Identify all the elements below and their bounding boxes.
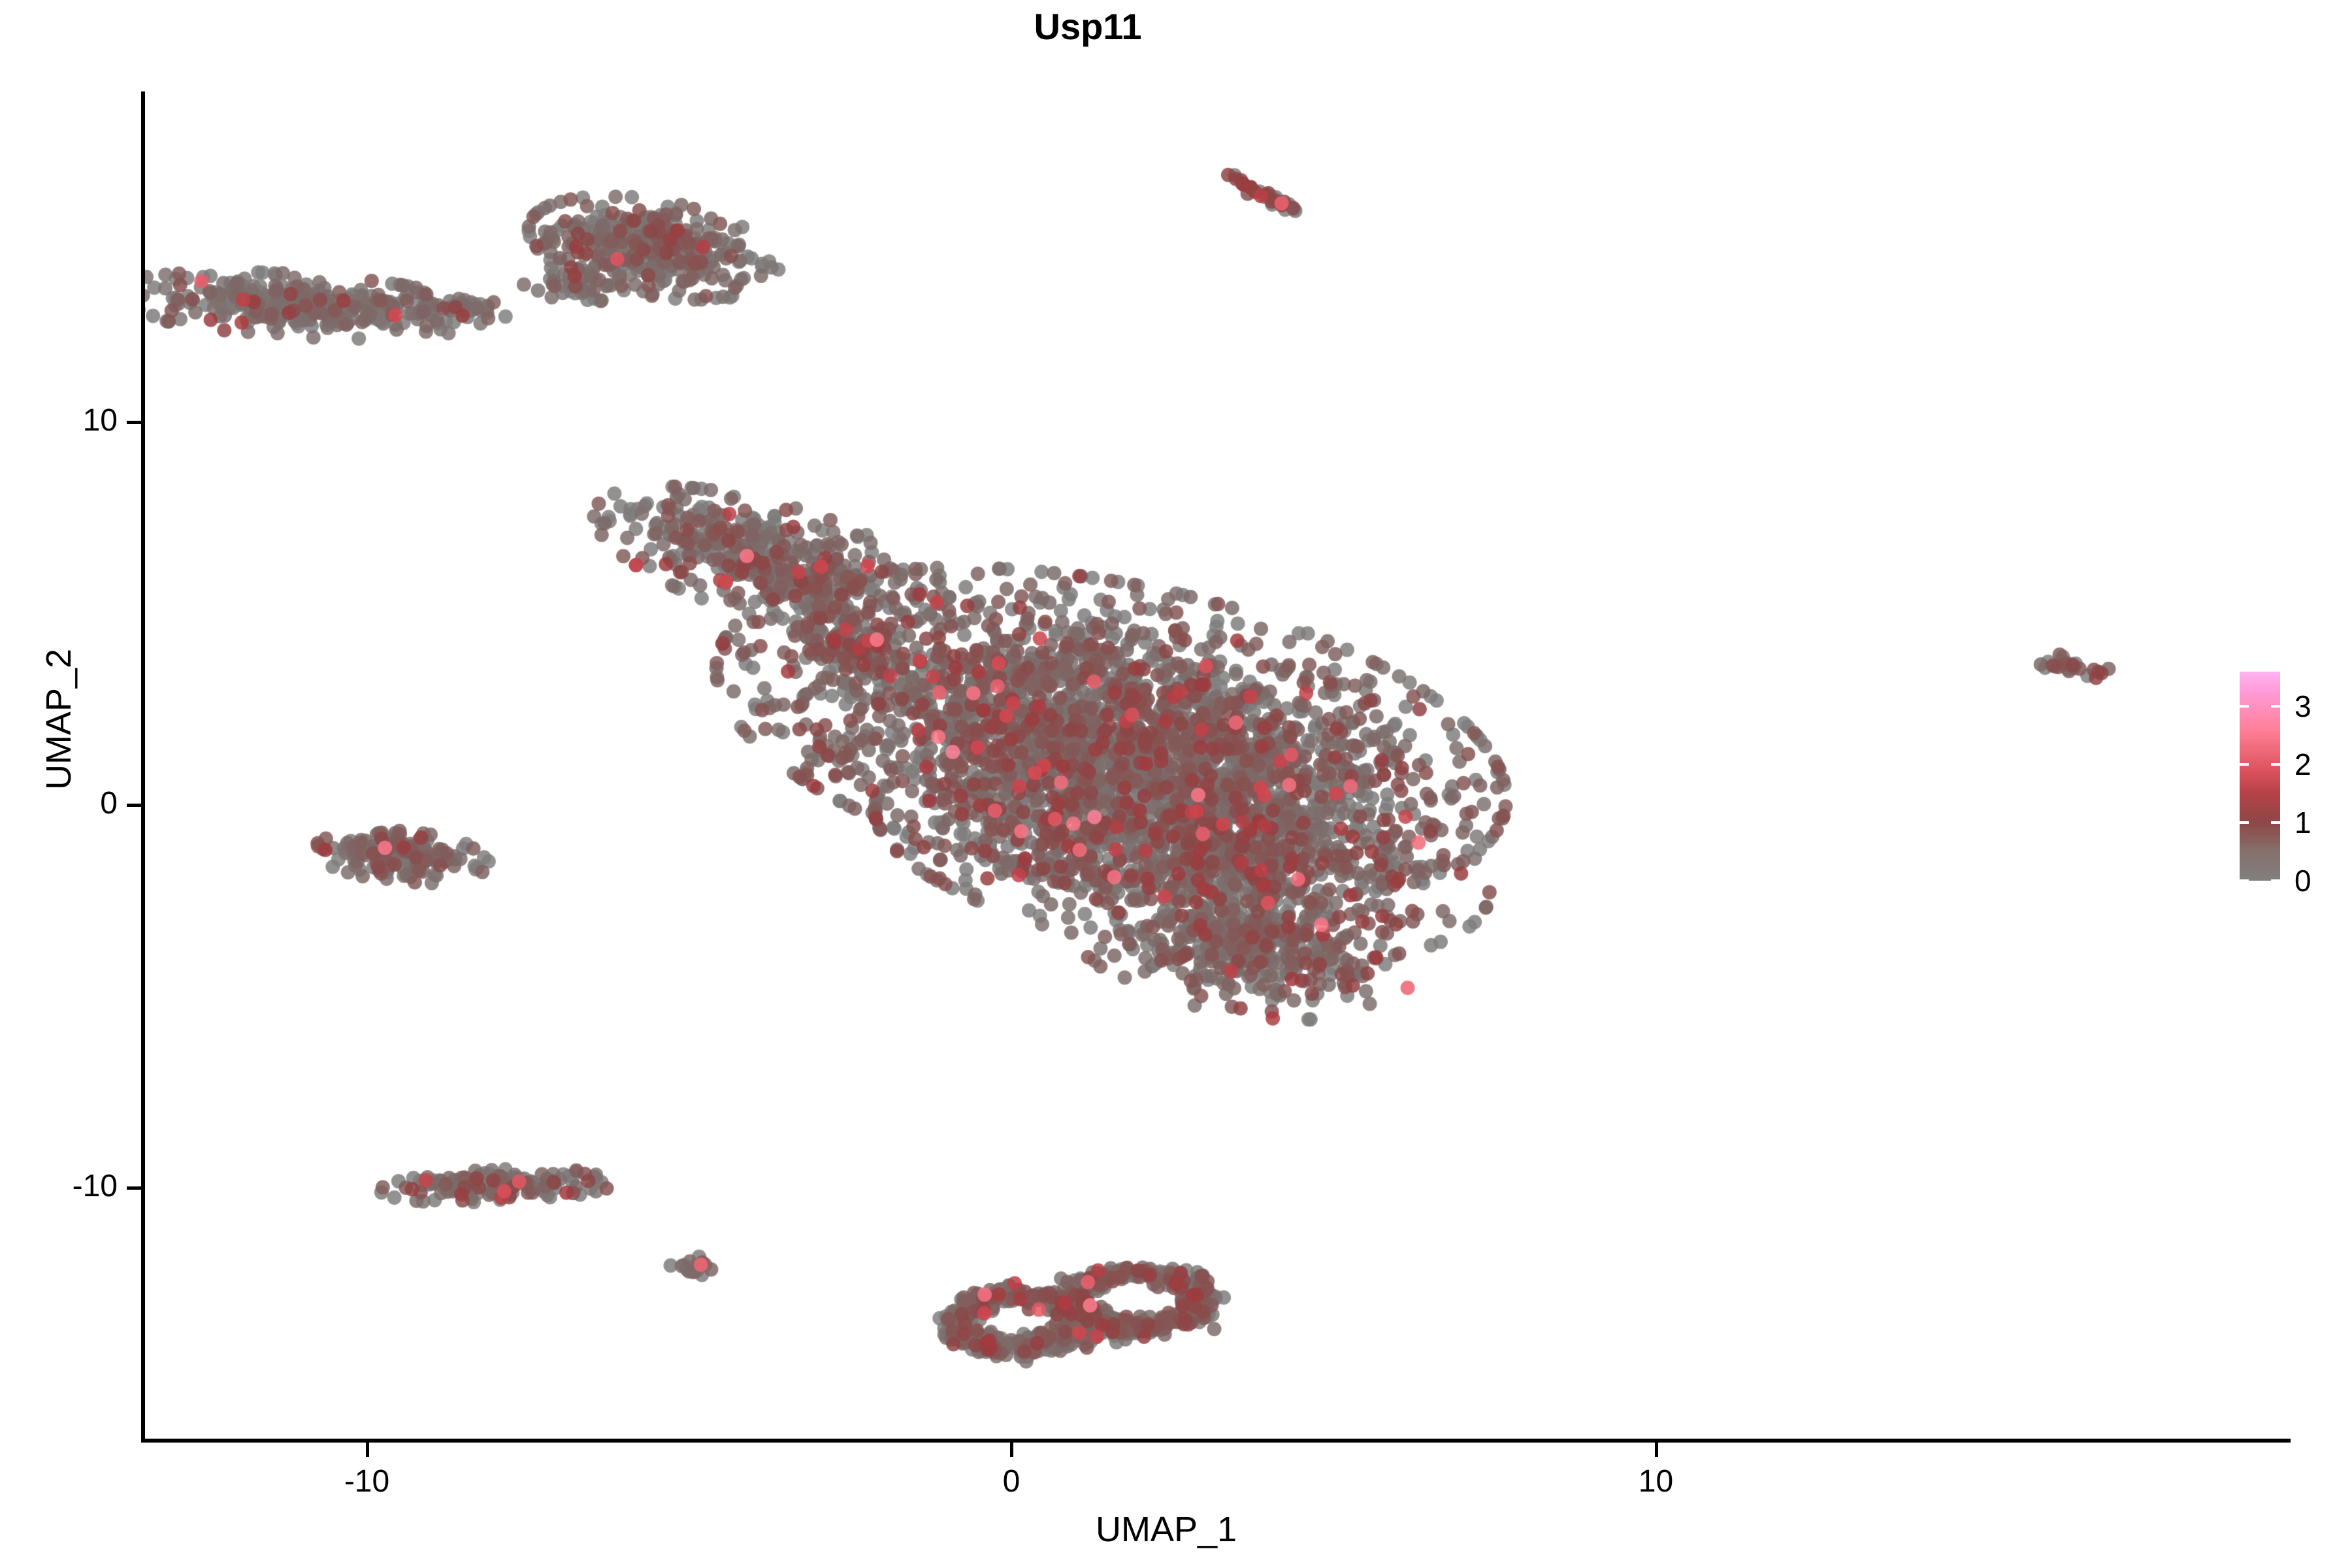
- y-tick-label: -10: [73, 1168, 118, 1204]
- y-tick-label: 0: [100, 785, 118, 821]
- x-axis-line: [141, 1439, 2291, 1443]
- y-tick-mark: [127, 421, 141, 424]
- y-tick-mark: [127, 1186, 141, 1190]
- colorbar-tick-mark: [2240, 763, 2249, 766]
- y-tick-label: 10: [83, 402, 118, 438]
- plot-panel: [144, 91, 2189, 1441]
- colorbar-label: 0: [2295, 863, 2311, 898]
- colorbar-label: 3: [2295, 689, 2311, 724]
- umap-feature-plot: Usp11 -10010-10010 UMAP_1 UMAP_2 0123: [0, 0, 2352, 1568]
- x-tick-label: 0: [1003, 1463, 1021, 1499]
- colorbar-tick-mark: [2271, 821, 2280, 824]
- y-axis-title: UMAP_2: [39, 491, 79, 948]
- colorbar-tick-mark: [2240, 705, 2249, 708]
- x-axis-title: UMAP_1: [144, 1509, 2189, 1550]
- colorbar-label: 1: [2295, 805, 2311, 840]
- x-tick-mark: [366, 1443, 369, 1457]
- colorbar-tick-mark: [2271, 879, 2280, 882]
- colorbar-label: 2: [2295, 747, 2311, 782]
- x-tick-label: -10: [344, 1463, 389, 1499]
- colorbar-tick-mark: [2240, 879, 2249, 882]
- colorbar-tick-mark: [2240, 821, 2249, 824]
- x-tick-mark: [1010, 1443, 1013, 1457]
- scatter-points-canvas: [144, 91, 2189, 1441]
- colorbar-gradient: [2240, 672, 2280, 881]
- colorbar-legend: 0123: [2234, 666, 2345, 892]
- page-title: Usp11: [0, 5, 2176, 48]
- x-tick-label: 10: [1639, 1463, 1673, 1499]
- y-tick-mark: [127, 804, 141, 807]
- y-axis-line: [141, 91, 145, 1443]
- colorbar-tick-mark: [2271, 763, 2280, 766]
- x-tick-mark: [1655, 1443, 1658, 1457]
- colorbar-tick-mark: [2271, 705, 2280, 708]
